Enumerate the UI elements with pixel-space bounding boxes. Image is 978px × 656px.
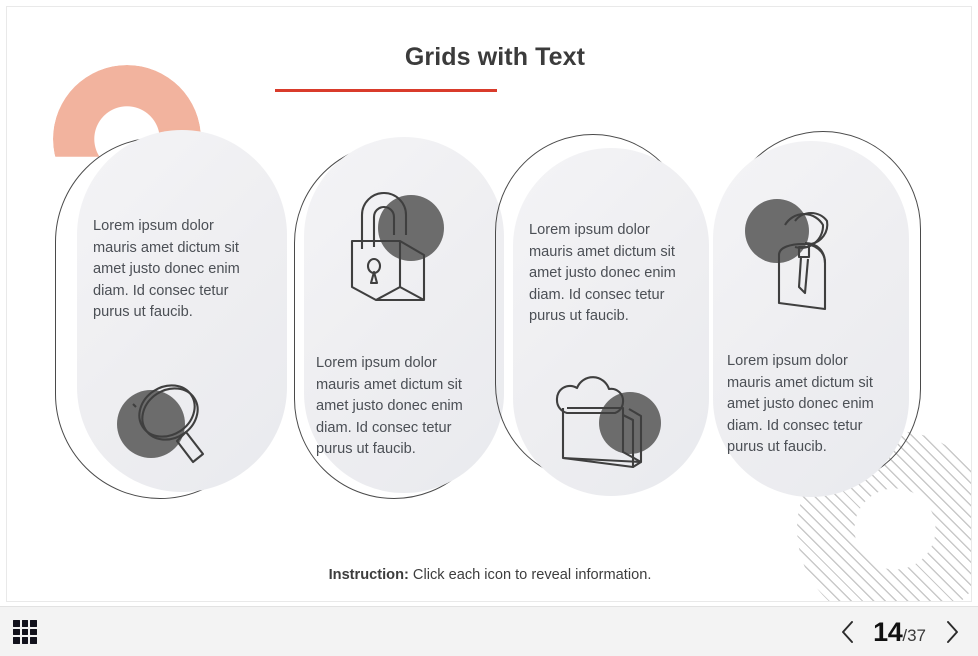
page-title: Grids with Text [275, 43, 715, 72]
grid-cell [22, 620, 29, 627]
grid-cell [13, 629, 20, 636]
panel-text-3: Lorem ipsum dolor mauris amet dictum sit… [529, 220, 697, 328]
magnifier-icon[interactable] [111, 368, 231, 474]
panel-text-1: Lorem ipsum dolor mauris amet dictum sit… [93, 216, 261, 324]
grid-menu-icon[interactable] [13, 620, 37, 644]
player-toolbar: 14 /37 [0, 606, 978, 656]
panel-content-3: Lorem ipsum dolor mauris amet dictum sit… [507, 140, 703, 488]
page-indicator: 14 /37 [873, 617, 926, 648]
grid-cell [30, 629, 37, 636]
chevron-right-icon[interactable] [942, 618, 962, 646]
instruction-label: Instruction: [329, 567, 409, 583]
panel-content-2: Lorem ipsum dolor mauris amet dictum sit… [296, 137, 496, 493]
panel-grid: Lorem ipsum dolor mauris amet dictum sit… [7, 7, 972, 602]
instruction-line: Instruction: Click each icon to reveal i… [7, 567, 972, 583]
page-navigation: 14 /37 [837, 607, 962, 656]
panel-content-4: Lorem ipsum dolor mauris amet dictum sit… [713, 135, 909, 491]
cloud-folder-icon[interactable] [537, 370, 657, 476]
padlock-icon[interactable] [336, 195, 456, 301]
panel-card-2[interactable]: Lorem ipsum dolor mauris amet dictum sit… [296, 137, 496, 493]
slide-header: Grids with Text [275, 43, 715, 92]
padlock-glyph [340, 195, 452, 303]
panel-text-2: Lorem ipsum dolor mauris amet dictum sit… [316, 353, 484, 461]
panel-card-1[interactable]: Lorem ipsum dolor mauris amet dictum sit… [65, 130, 275, 492]
grid-cell [13, 620, 20, 627]
grid-cell [22, 629, 29, 636]
title-underline [275, 89, 497, 92]
slide-stage: Grids with Text Lorem ipsum dolor mauris… [6, 6, 972, 602]
chevron-left-icon[interactable] [837, 618, 857, 646]
total-page-count: /37 [902, 626, 926, 646]
person-tie-icon[interactable] [745, 191, 865, 297]
magnifier-glyph [127, 374, 223, 474]
instruction-text: Click each icon to reveal information. [409, 567, 652, 583]
grid-cell [22, 637, 29, 644]
panel-card-3[interactable]: Lorem ipsum dolor mauris amet dictum sit… [507, 140, 703, 488]
slide-viewer: Grids with Text Lorem ipsum dolor mauris… [0, 0, 978, 656]
person-tie-glyph [755, 191, 865, 309]
panel-content-1: Lorem ipsum dolor mauris amet dictum sit… [65, 130, 275, 492]
grid-cell [30, 620, 37, 627]
grid-cell [13, 637, 20, 644]
panel-text-4: Lorem ipsum dolor mauris amet dictum sit… [727, 351, 895, 459]
panel-card-4[interactable]: Lorem ipsum dolor mauris amet dictum sit… [713, 135, 909, 491]
current-page-number: 14 [873, 617, 902, 648]
cloud-folder-glyph [537, 370, 663, 474]
grid-cell [30, 637, 37, 644]
